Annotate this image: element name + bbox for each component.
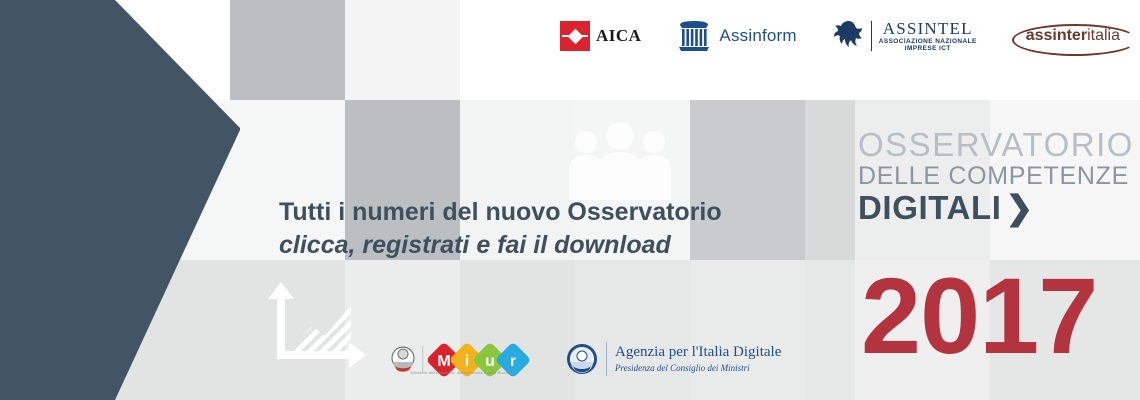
svg-text:i: i bbox=[465, 353, 469, 370]
assintel-logo-label: ASSINTEL bbox=[883, 20, 973, 37]
assinteritalia-label-light: italia bbox=[1087, 27, 1120, 44]
headline-text: Tutti i numeri del nuovo Osservatorio cl… bbox=[279, 196, 779, 262]
assinform-logo[interactable]: Assinform bbox=[676, 19, 796, 53]
assinteritalia-logo-label: assinteritalia bbox=[1026, 27, 1120, 45]
aica-logo[interactable]: AICA bbox=[560, 21, 641, 51]
assinteritalia-label-bold: assinter bbox=[1026, 27, 1087, 44]
observatory-title-block[interactable]: OSSERVATORIO DELLE COMPETENZE DIGITALI❯ bbox=[858, 128, 1134, 224]
assinteritalia-logo[interactable]: assinteritalia bbox=[1012, 22, 1130, 50]
miur-logo[interactable]: M i u r bbox=[386, 336, 536, 384]
navy-chevron-shape bbox=[0, 0, 240, 400]
svg-text:M: M bbox=[437, 353, 450, 370]
people-group-icon bbox=[556, 122, 684, 200]
background-tile bbox=[805, 100, 855, 260]
partner-logo-strip: AICA Assinform bbox=[560, 8, 1130, 64]
aica-mark-icon bbox=[560, 21, 590, 51]
observatory-title-line1: OSSERVATORIO bbox=[858, 128, 1134, 161]
agid-title: Agenzia per l'Italia Digitale bbox=[615, 344, 781, 361]
miur-subtitle: Ministero dell'Istruzione, dell'Universi… bbox=[386, 371, 536, 375]
observatory-title-digitali: DIGITALI bbox=[858, 189, 1002, 226]
agid-logo[interactable]: Agenzia per l'Italia Digitale Presidenza… bbox=[566, 338, 781, 380]
background-tile bbox=[230, 0, 345, 100]
assintel-divider bbox=[871, 21, 872, 51]
growth-chart-icon bbox=[263, 280, 368, 375]
assintel-eagle-icon bbox=[832, 19, 866, 53]
agid-subtitle: Presidenza del Consiglio dei Ministri bbox=[615, 363, 781, 374]
assinform-logo-label: Assinform bbox=[719, 26, 796, 46]
promo-banner[interactable]: AICA Assinform bbox=[0, 0, 1140, 400]
assintel-logo[interactable]: ASSINTEL ASSOCIAZIONE NAZIONALE IMPRESE … bbox=[832, 19, 977, 53]
year-label: 2017 bbox=[861, 262, 1097, 370]
background-tile bbox=[345, 0, 460, 100]
svg-text:u: u bbox=[485, 353, 495, 370]
agid-divider bbox=[606, 342, 607, 376]
aica-logo-label: AICA bbox=[596, 26, 641, 46]
assinform-crown-icon bbox=[676, 19, 712, 53]
chevron-right-icon[interactable]: ❯ bbox=[1006, 189, 1034, 226]
headline-line1: Tutti i numeri del nuovo Osservatorio bbox=[279, 196, 779, 229]
italian-republic-emblem-icon bbox=[391, 346, 415, 372]
observatory-title-line3: DIGITALI❯ bbox=[858, 191, 1134, 224]
headline-line2: clicca, registrati e fai il download bbox=[279, 229, 779, 262]
svg-text:r: r bbox=[510, 353, 516, 370]
background-tile bbox=[805, 260, 855, 400]
agid-emblem-icon bbox=[566, 343, 598, 375]
observatory-title-line2: DELLE COMPETENZE bbox=[858, 164, 1134, 189]
assintel-subtitle-line2: IMPRESE ICT bbox=[905, 46, 951, 53]
